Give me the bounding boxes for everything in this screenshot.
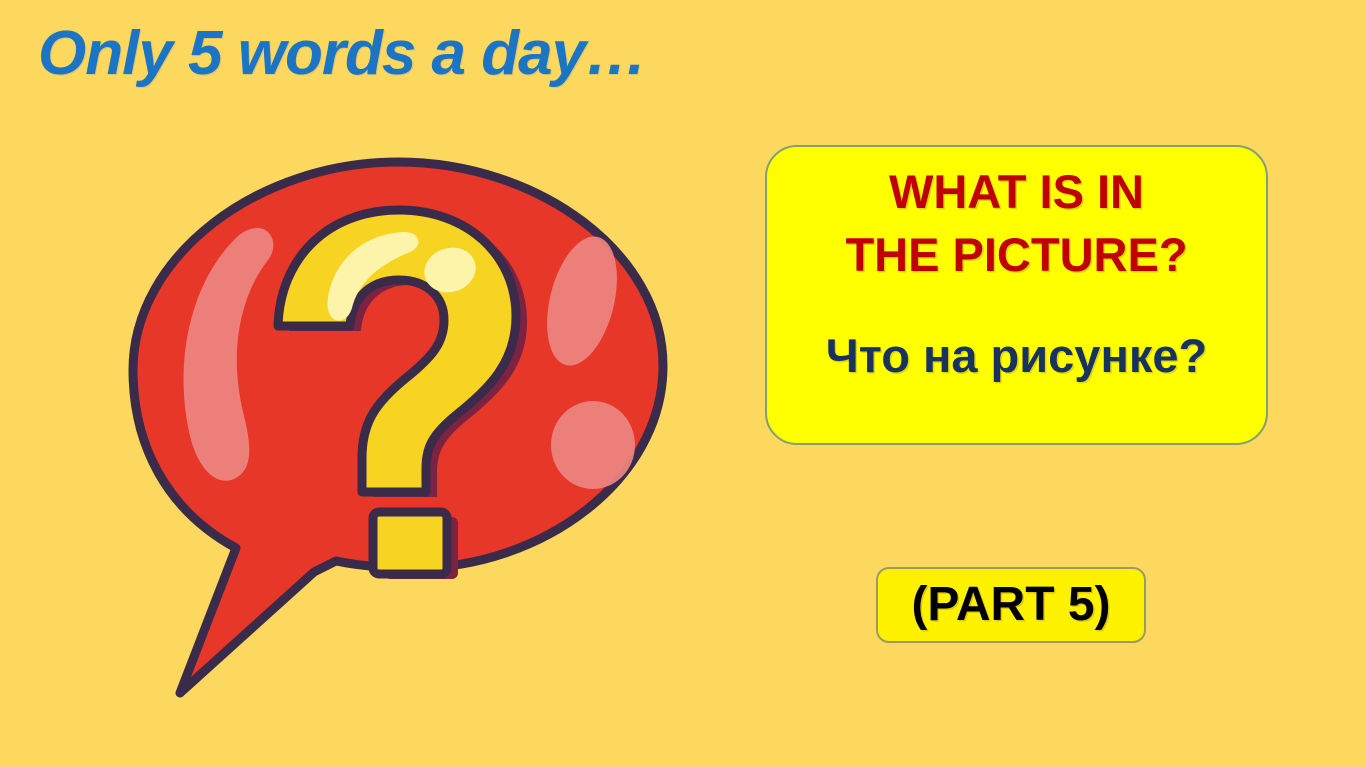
bubble-highlight-dot [551,401,635,489]
part-badge: (PART 5) [876,567,1146,643]
slide-title: Only 5 words a day… [38,20,646,88]
question-card: WHAT IS IN THE PICTURE? Что на рисунке? [765,145,1268,445]
question-english-line-2: THE PICTURE? [845,224,1187,287]
question-english-line-1: WHAT IS IN [889,161,1144,224]
question-mark-dot [373,512,447,574]
slide-canvas: Only 5 words a day… WHAT IS IN T [0,0,1366,767]
question-russian: Что на рисунке? [826,328,1207,384]
question-mark-speech-bubble-icon [118,148,678,718]
part-badge-label: (PART 5) [911,581,1110,629]
